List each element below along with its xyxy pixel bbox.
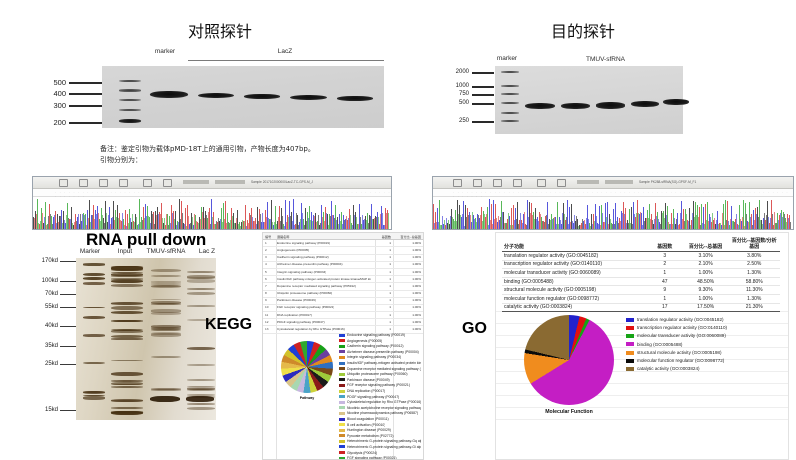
kegg-spreadsheet[interactable]: 编号通路名称基因数百分比--总基因1Endocrine signaling pa… — [262, 232, 424, 460]
table-row[interactable]: 5Integrin signaling pathway (P00034)11.0… — [263, 269, 423, 276]
table-row[interactable]: transcription regulator activity (GO:014… — [502, 260, 780, 269]
gel-lane-group-label: LacZ — [195, 48, 375, 55]
kegg-legend: Endocrine signaling pathway (P00019)Angi… — [339, 333, 423, 460]
go-pct-total-cell: 9.30% — [683, 286, 729, 295]
toolbar-divider — [183, 180, 209, 184]
legend-swatch — [626, 334, 634, 338]
print-icon[interactable] — [513, 179, 522, 187]
go-genes-cell: 3 — [647, 252, 683, 261]
legend-label: Heterotrimeric G-protein signaling pathw… — [347, 445, 421, 449]
table-row[interactable]: 4Alzheimer disease-presenilin pathway (P… — [263, 262, 423, 269]
kegg-label: KEGG — [205, 316, 252, 334]
go-label: GO — [462, 320, 487, 338]
go-col-term: 分子功能 — [502, 237, 647, 252]
target-probe-title: 目的探针 — [551, 18, 615, 42]
silver-stained-gel-image — [76, 258, 216, 420]
chromatogram-ruler-right: · · · · · · · · · · · · · · · · · · · · … — [433, 189, 793, 197]
ladder-tick — [472, 121, 494, 123]
go-pct-analyzed-cell: 11.30% — [729, 286, 780, 295]
legend-item: translation regulator activity (GO:00451… — [626, 317, 786, 325]
table-row[interactable]: translation regulator activity (GO:00451… — [502, 252, 780, 261]
legend-item: structural molecule activity (GO:0005198… — [626, 350, 786, 358]
legend-label: FGF receptor signaling pathway (P00021) — [347, 383, 410, 387]
gel-marker-label: marker — [487, 55, 527, 62]
legend-swatch — [626, 359, 634, 363]
table-row[interactable]: 6Insulin/IGF pathway-mitogen activated p… — [263, 276, 423, 283]
mw-label: 170kd — [28, 258, 58, 264]
kegg-pie-title: Pathway — [281, 396, 333, 400]
mw-label: 55kd — [28, 304, 58, 310]
legend-swatch — [339, 350, 345, 353]
table-row[interactable]: 2Angiogenesis (P00005)11.00% — [263, 247, 423, 254]
go-pct-total-cell: 3.10% — [683, 252, 729, 261]
ladder-tick — [472, 103, 494, 105]
legend-swatch — [339, 339, 345, 342]
mw-label: 70kd — [28, 291, 58, 297]
kegg-pie-chart — [281, 341, 333, 393]
legend-swatch — [626, 367, 634, 371]
ladder-tick — [69, 122, 105, 124]
go-term-cell: binding (GO:0005488) — [502, 277, 647, 286]
go-pct-total-cell: 17.50% — [683, 303, 729, 312]
legend-label: molecular function regulator (GO:0098772… — [637, 358, 724, 363]
legend-swatch — [339, 378, 345, 381]
table-row[interactable]: 编号通路名称基因数百分比--总基因 — [263, 233, 423, 240]
find-icon[interactable] — [163, 179, 172, 187]
legend-swatch — [339, 395, 345, 398]
legend-item: FGF signaling pathway (P00021) — [339, 456, 423, 460]
go-pct-analyzed-cell: 3.80% — [729, 252, 780, 261]
table-row[interactable]: 8Ubiquitin proteasome pathway (P00060)11… — [263, 291, 423, 298]
gel-image — [495, 66, 683, 134]
legend-label: B cell activation (P00010) — [347, 423, 385, 427]
go-pct-analyzed-cell: 1.30% — [729, 294, 780, 303]
new-icon[interactable] — [143, 179, 152, 187]
legend-label: Glycolysis (P00024) — [347, 451, 377, 455]
export-icon[interactable] — [99, 179, 108, 187]
go-col-pct-total: 百分比--总基因 — [683, 237, 729, 252]
legend-item: binding (GO:0005488) — [626, 342, 786, 350]
legend-label: Cytoskeletal regulation by Rho GTPase (P… — [347, 400, 421, 404]
legend-label: Endocrine signaling pathway (P00019) — [347, 333, 405, 337]
lane-group-rule — [188, 60, 384, 61]
ladder-tick — [472, 72, 494, 74]
go-genes-cell: 9 — [647, 286, 683, 295]
legend-label: catalytic activity (GO:0003824) — [637, 366, 700, 371]
lane-header-lacz: Lac Z — [192, 248, 222, 255]
go-col-genes: 基因数 — [647, 237, 683, 252]
go-pct-analyzed-cell: 2.50% — [729, 260, 780, 269]
go-genes-cell: 1 — [647, 294, 683, 303]
save-icon[interactable] — [79, 179, 88, 187]
legend-label: Nicotinic acetylcholine receptor signali… — [347, 406, 421, 410]
chromatogram-toolbar-right[interactable]: Sample PK288-sfRNA(SG)-GPSF-M_F1 — [433, 177, 793, 189]
legend-label: Blood coagulation (P00011) — [347, 417, 389, 421]
legend-swatch — [339, 356, 345, 359]
ladder-label: 1000 — [445, 83, 469, 89]
legend-swatch — [339, 362, 345, 365]
legend-swatch — [339, 451, 345, 454]
legend-label: DNA replication (P00017) — [347, 389, 385, 393]
go-pct-analyzed-cell: 1.30% — [729, 269, 780, 278]
go-pie-title: Molecular Function — [514, 409, 624, 415]
legend-label: transcription regulator activity (GO:014… — [637, 325, 727, 330]
legend-swatch — [339, 429, 345, 432]
legend-swatch — [339, 390, 345, 393]
ladder-label: 400 — [40, 89, 66, 98]
go-pie-chart — [524, 315, 614, 405]
chromatogram-trace-right — [433, 197, 793, 229]
go-table-header-row: 分子功能 基因数 百分比--总基因 百分比--基因数/分析基因 — [502, 237, 780, 252]
ladder-label: 750 — [445, 91, 469, 97]
go-table[interactable]: 分子功能 基因数 百分比--总基因 百分比--基因数/分析基因 translat… — [502, 237, 780, 312]
go-term-cell: structural molecule activity (GO:0005198… — [502, 286, 647, 295]
legend-item: catalytic activity (GO:0003824) — [626, 366, 786, 374]
legend-label: FGF signaling pathway (P00021) — [347, 456, 397, 460]
legend-swatch — [339, 406, 345, 409]
table-row[interactable]: molecular function regulator (GO:0098772… — [502, 294, 780, 303]
table-row[interactable]: 11DNA replication (P00017)11.00% — [263, 312, 423, 319]
find-icon[interactable] — [557, 179, 566, 187]
table-row[interactable]: molecular transducer activity (GO:006008… — [502, 269, 780, 278]
legend-item: transcription regulator activity (GO:014… — [626, 325, 786, 333]
ladder-tick — [472, 86, 494, 88]
go-pct-total-cell: 1.00% — [683, 269, 729, 278]
ladder-label: 250 — [445, 118, 469, 124]
go-genes-cell: 2 — [647, 260, 683, 269]
ladder-label: 2000 — [445, 69, 469, 75]
legend-item: molecular function regulator (GO:0098772… — [626, 358, 786, 366]
mw-label: 15kd — [28, 407, 58, 413]
caption-line-1: 备注：鉴定引物为载体pMD-18T上的通用引物，产物长度为407bp。 — [100, 144, 420, 155]
ladder-label: 200 — [40, 118, 66, 127]
lane-header-tmuv-sfrna: TMUV-sfRNA — [142, 248, 190, 255]
legend-label: Parkinson disease (P00049) — [347, 378, 390, 382]
chromatogram-ruler-left: · · · · · · · · · · · · · · · · · · · · … — [33, 189, 391, 197]
rna-pull-down-panel: RNA pull down Marker Input TMUV-sfRNA La… — [72, 230, 282, 458]
mw-label: 25kd — [28, 361, 58, 367]
legend-swatch — [339, 434, 345, 437]
print-icon[interactable] — [119, 179, 128, 187]
open-icon[interactable] — [59, 179, 68, 187]
legend-swatch — [626, 326, 634, 330]
ladder-label: 500 — [445, 100, 469, 106]
table-row[interactable]: structural molecule activity (GO:0005198… — [502, 286, 780, 295]
legend-label: Huntington disease (P00029) — [347, 428, 391, 432]
ladder-tick — [69, 82, 105, 84]
gel-lane-group-label: TMUV-sfRNA — [533, 56, 678, 63]
save-icon[interactable] — [473, 179, 482, 187]
ladder-label: 300 — [40, 101, 66, 110]
go-table-body[interactable]: translation regulator activity (GO:00451… — [502, 252, 780, 312]
lane-header-marker: Marker — [72, 248, 108, 255]
go-term-cell: translation regulator activity (GO:00451… — [502, 252, 647, 261]
table-row[interactable]: 10FGF receptor signaling pathway (P00021… — [263, 305, 423, 312]
gel-image — [102, 66, 384, 128]
legend-swatch — [339, 440, 345, 443]
lane-header-input: Input — [110, 248, 140, 255]
open-icon[interactable] — [453, 179, 462, 187]
table-row[interactable]: 3Cadherin signaling pathway (P00012)11.0… — [263, 255, 423, 262]
legend-swatch — [339, 457, 345, 460]
go-pct-total-cell: 1.00% — [683, 294, 729, 303]
ladder-label: 500 — [40, 78, 66, 87]
ladder-tick — [69, 93, 105, 95]
legend-swatch — [339, 401, 345, 404]
ladder-tick — [69, 105, 105, 107]
legend-swatch — [626, 351, 634, 355]
legend-swatch — [339, 367, 345, 370]
chromatogram-viewer-right[interactable]: Sample PK288-sfRNA(SG)-GPSF-M_F1 · · · ·… — [432, 176, 794, 230]
table-row[interactable]: 12PDGF signaling pathway (P00047)11.00% — [263, 319, 423, 326]
table-row[interactable]: binding (GO:0005488)4748.50%58.80% — [502, 277, 780, 286]
legend-label: PDGF signaling pathway (P00047) — [347, 395, 399, 399]
legend-label: Insulin/IGF pathway-mitogen activated pr… — [347, 361, 421, 365]
export-icon[interactable] — [493, 179, 502, 187]
go-panel[interactable]: 分子功能 基因数 百分比--总基因 百分比--基因数/分析基因 translat… — [495, 232, 789, 460]
go-genes-cell: 47 — [647, 277, 683, 286]
go-term-cell: catalytic activity (GO:0003824) — [502, 303, 647, 312]
mw-label: 35kd — [28, 343, 58, 349]
go-genes-cell: 17 — [647, 303, 683, 312]
legend-label: molecular transducer activity (GO:006008… — [637, 333, 726, 338]
mw-label: 40kd — [28, 323, 58, 329]
legend-label: Alzheimer disease-presenilin pathway (P0… — [347, 350, 419, 354]
table-row[interactable]: 1Endocrine signaling pathway (P00019)11.… — [263, 240, 423, 247]
chromatogram-viewer-left[interactable]: Sample 2017102000000LacZ-TC-GPS-M_J · · … — [32, 176, 392, 230]
legend-swatch — [339, 412, 345, 415]
go-legend: translation regulator activity (GO:00451… — [626, 317, 786, 374]
go-term-cell: transcription regulator activity (GO:014… — [502, 260, 647, 269]
rna-pull-down-title: RNA pull down — [86, 230, 206, 250]
control-probe-title: 对照探针 — [188, 18, 252, 42]
legend-swatch — [339, 334, 345, 337]
go-pct-total-cell: 48.50% — [683, 277, 729, 286]
legend-label: translation regulator activity (GO:00451… — [637, 317, 724, 322]
caption-line-2: 引物分别为： — [100, 155, 420, 166]
legend-label: binding (GO:0005488) — [637, 342, 682, 347]
legend-label: Cadherin signaling pathway (P00012) — [347, 344, 404, 348]
legend-item: molecular transducer activity (GO:006008… — [626, 333, 786, 341]
table-row[interactable]: 7Dopamine receptor mediated signaling pa… — [263, 283, 423, 290]
go-term-cell: molecular function regulator (GO:0098772… — [502, 294, 647, 303]
go-col-pct-analyzed: 百分比--基因数/分析基因 — [729, 237, 780, 252]
toolbar-divider — [215, 180, 245, 184]
control-probe-gel: marker LacZ 500 400 300 200 — [40, 48, 400, 133]
legend-swatch — [339, 445, 345, 448]
legend-swatch — [339, 423, 345, 426]
legend-label: Pyruvate metabolism (P02772) — [347, 434, 394, 438]
legend-label: Nicotine pharmacodynamics pathway (P0658… — [347, 411, 418, 415]
table-row[interactable]: 9Parkinson disease (P00049)11.00% — [263, 298, 423, 305]
legend-swatch — [339, 345, 345, 348]
chromatogram-trace-left — [33, 197, 391, 229]
legend-label: Dopamine receptor mediated signaling pat… — [347, 367, 421, 371]
go-pct-total-cell: 2.10% — [683, 260, 729, 269]
go-pct-analyzed-cell: 58.80% — [729, 277, 780, 286]
legend-swatch — [626, 342, 634, 346]
chromatogram-sample-label: Sample 2017102000000LacZ-TC-GPS-M_J — [251, 180, 313, 184]
toolbar-divider — [577, 180, 599, 184]
kegg-table-body[interactable]: 编号通路名称基因数百分比--总基因1Endocrine signaling pa… — [263, 233, 423, 334]
chromatogram-sample-label: Sample PK288-sfRNA(SG)-GPSF-M_F1 — [639, 180, 696, 184]
legend-swatch — [339, 384, 345, 387]
legend-label: structural molecule activity (GO:0005198… — [637, 350, 722, 355]
ladder-tick — [472, 94, 494, 96]
new-icon[interactable] — [537, 179, 546, 187]
legend-label: Ubiquitin proteasome pathway (P00060) — [347, 372, 408, 376]
chromatogram-toolbar-left[interactable]: Sample 2017102000000LacZ-TC-GPS-M_J — [33, 177, 391, 189]
legend-label: Integrin signaling pathway (P00034) — [347, 355, 401, 359]
gel-marker-label: marker — [140, 48, 190, 55]
legend-swatch — [339, 418, 345, 421]
gel-caption: 备注：鉴定引物为载体pMD-18T上的通用引物，产物长度为407bp。 引物分别… — [100, 144, 420, 166]
toolbar-divider — [605, 180, 633, 184]
legend-label: Angiogenesis (P00005) — [347, 339, 382, 343]
target-probe-gel: marker TMUV-sfRNA 2000 1000 750 500 250 — [455, 55, 755, 140]
legend-swatch — [339, 373, 345, 376]
mw-label: 100kd — [28, 278, 58, 284]
go-pct-analyzed-cell: 21.30% — [729, 303, 780, 312]
legend-swatch — [626, 318, 634, 322]
go-term-cell: molecular transducer activity (GO:006008… — [502, 269, 647, 278]
go-genes-cell: 1 — [647, 269, 683, 278]
table-row[interactable]: catalytic activity (GO:0003824)1717.50%2… — [502, 303, 780, 312]
legend-label: Heterotrimeric G-protein signaling pathw… — [347, 439, 421, 443]
